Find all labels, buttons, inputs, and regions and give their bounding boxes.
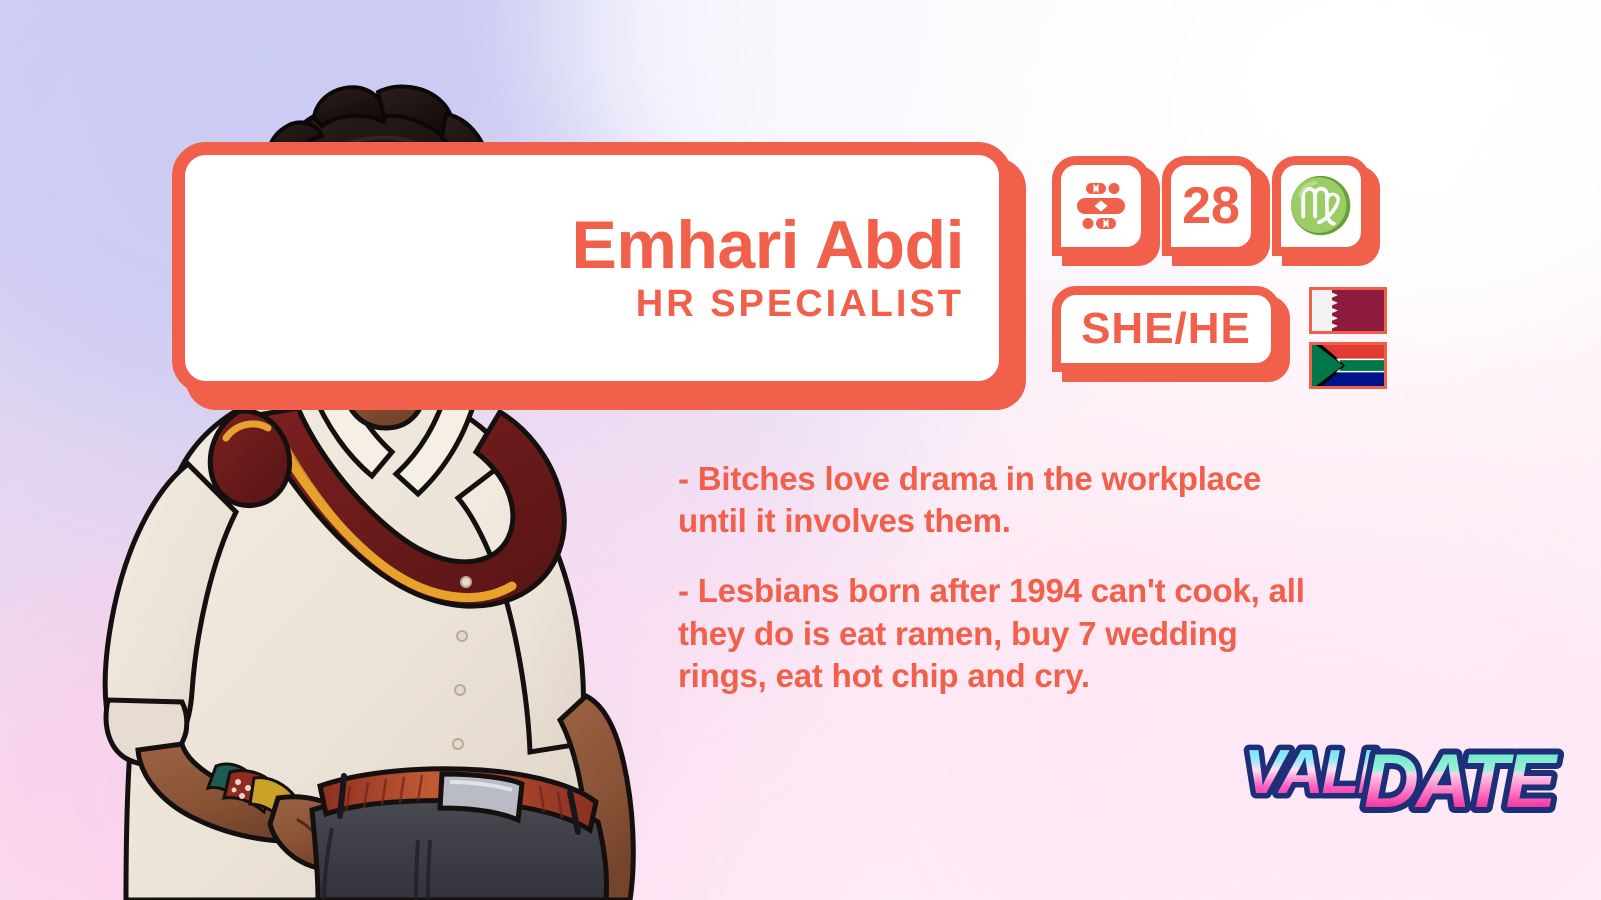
profile-card-screen: Emhari Abdi HR SPECIALIST <box>0 0 1601 900</box>
svg-text:DATE: DATE <box>1364 739 1559 824</box>
age-badge[interactable]: 28 <box>1162 156 1260 256</box>
zodiac-badge[interactable]: ♍ <box>1272 156 1370 256</box>
bio-line-1: - Bitches love drama in the workplace un… <box>678 458 1318 542</box>
validate-logo: VALI VALI DATE DATE <box>1236 725 1576 835</box>
pronouns-badge[interactable]: SHE/HE <box>1052 286 1280 372</box>
gender-identity-icon <box>1073 180 1129 232</box>
flag-stack <box>1309 287 1387 389</box>
pronouns-badge-face: SHE/HE <box>1052 286 1280 372</box>
svg-text:VALI: VALI <box>1244 738 1376 807</box>
qatar-flag <box>1309 287 1387 334</box>
age-value: 28 <box>1182 180 1240 232</box>
badge-row-top: 28 ♍ <box>1052 156 1370 256</box>
identity-badge-face <box>1052 156 1150 256</box>
identity-badge[interactable] <box>1052 156 1150 256</box>
bio-line-2: - Lesbians born after 1994 can't cook, a… <box>678 570 1318 697</box>
badge-row-bottom: SHE/HE <box>1052 286 1280 372</box>
age-badge-face: 28 <box>1162 156 1260 256</box>
name-card <box>172 142 1012 394</box>
bio-block: - Bitches love drama in the workplace un… <box>678 458 1318 697</box>
zodiac-badge-face: ♍ <box>1272 156 1370 256</box>
pronouns-value: SHE/HE <box>1081 307 1251 351</box>
virgo-icon: ♍ <box>1287 179 1354 233</box>
south-africa-flag <box>1309 342 1387 389</box>
